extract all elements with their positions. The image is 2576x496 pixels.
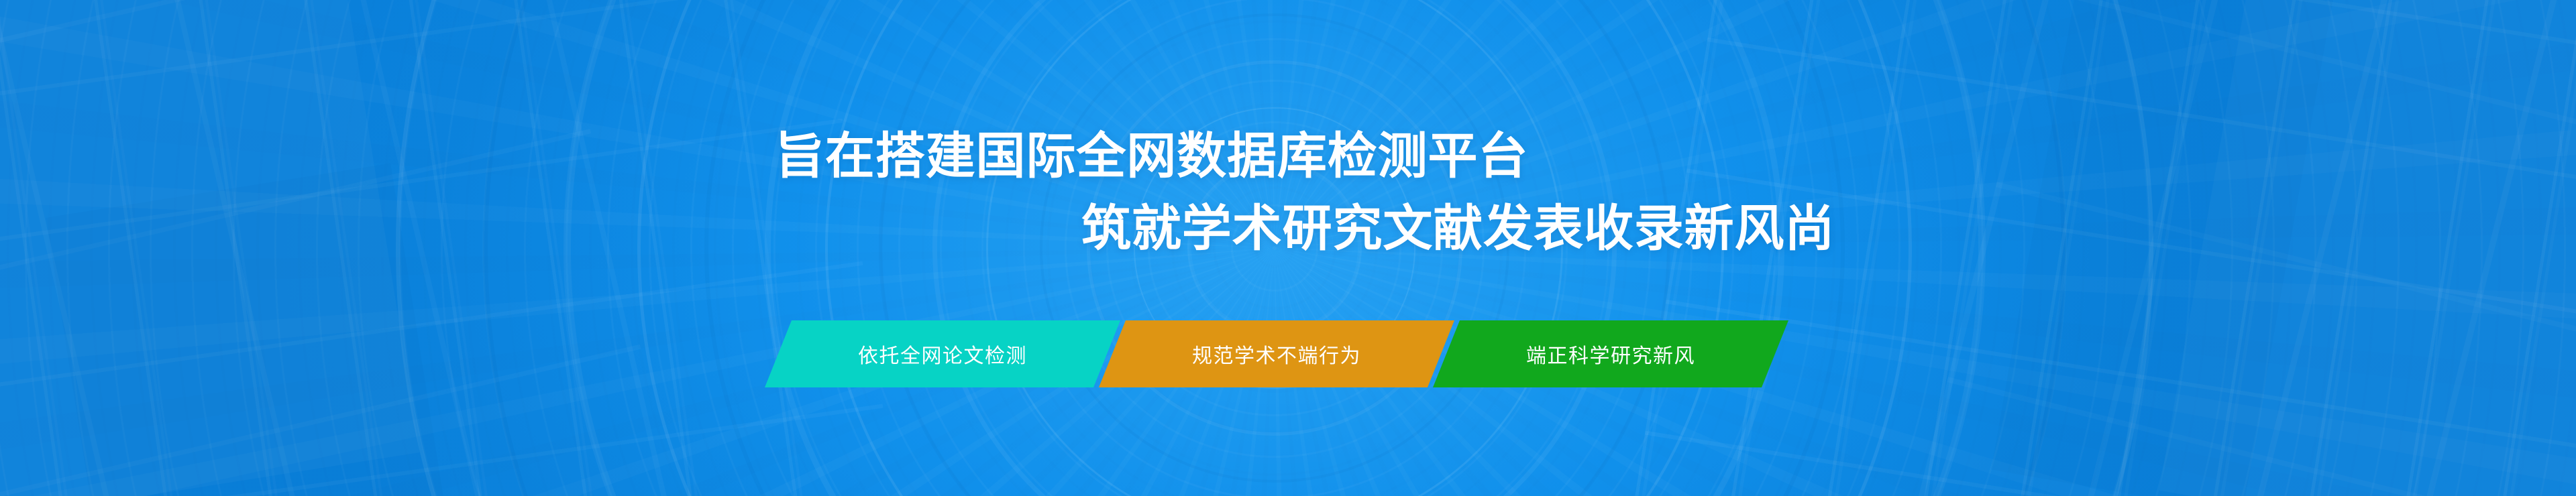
feature-tag-label: 依托全网论文检测 [858, 339, 1027, 369]
feature-tag-label: 规范学术不端行为 [1192, 339, 1361, 369]
headline-line-1: 旨在搭建国际全网数据库检测平台 [775, 131, 1528, 181]
promo-banner: 旨在搭建国际全网数据库检测平台 筑就学术研究文献发表收录新风尚 依托全网论文检测… [0, 0, 2576, 496]
feature-tag-group: 依托全网论文检测 规范学术不端行为 端正科学研究新风 [778, 320, 1775, 387]
feature-tag-integrity[interactable]: 端正科学研究新风 [1433, 320, 1788, 387]
feature-tag-misconduct[interactable]: 规范学术不端行为 [1099, 320, 1454, 387]
feature-tag-label: 端正科学研究新风 [1526, 339, 1695, 369]
feature-tag-detection[interactable]: 依托全网论文检测 [765, 320, 1120, 387]
headline-line-2: 筑就学术研究文献发表收录新风尚 [1081, 204, 1835, 253]
banner-content: 旨在搭建国际全网数据库检测平台 筑就学术研究文献发表收录新风尚 依托全网论文检测… [0, 0, 2576, 496]
